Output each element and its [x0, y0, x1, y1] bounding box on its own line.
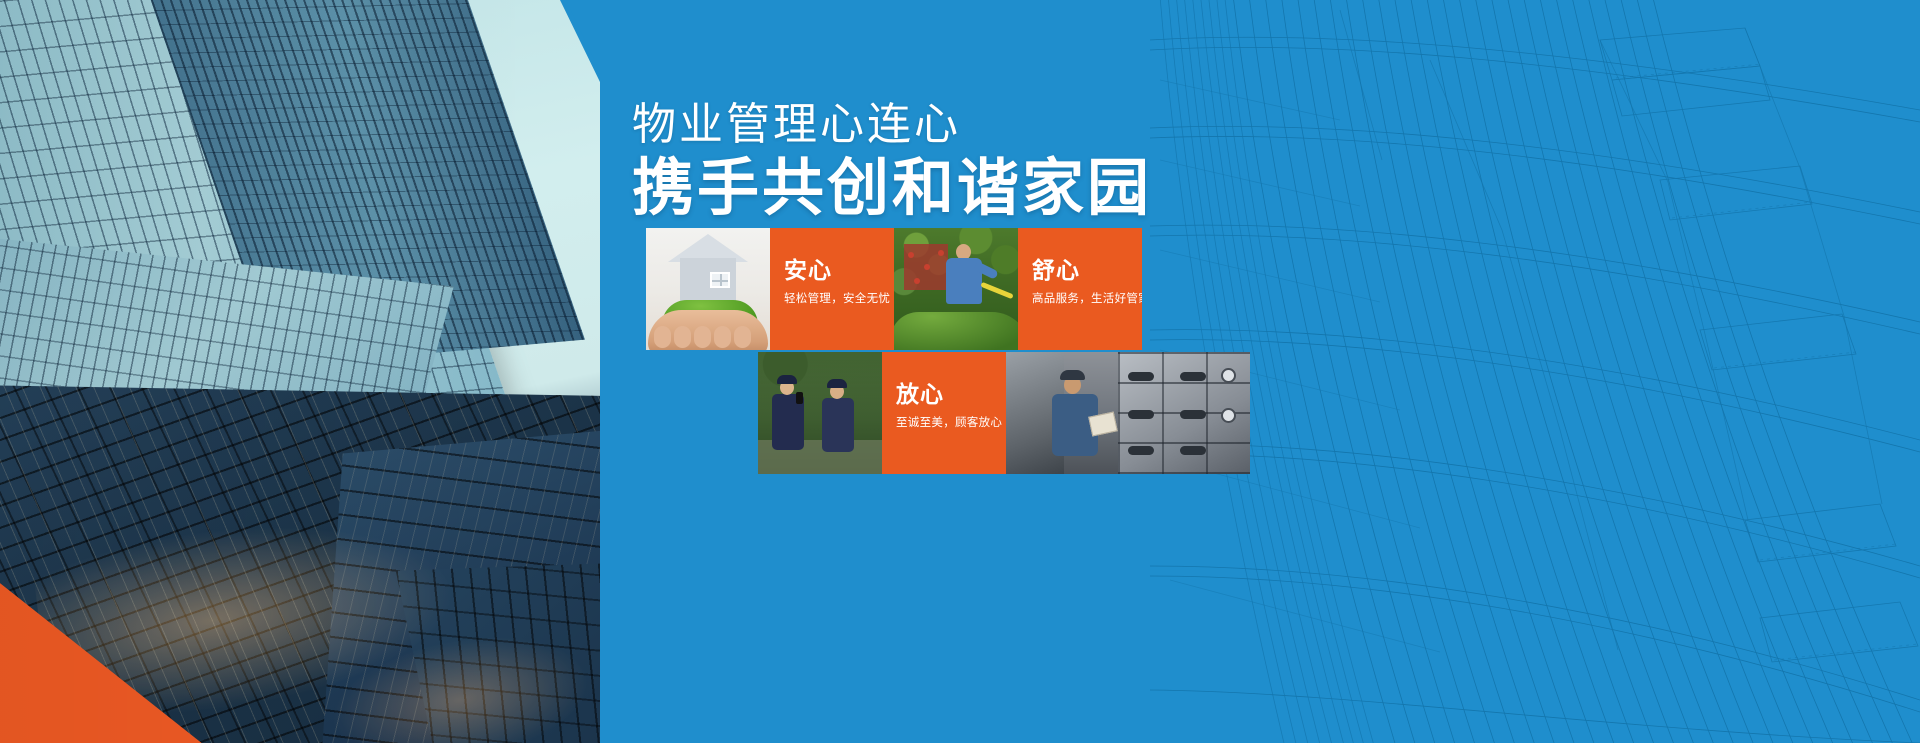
- guard-two-body-shape: [822, 398, 854, 452]
- guard-two-cap-shape: [827, 379, 847, 388]
- walkie-talkie-shape: [796, 392, 803, 404]
- finger-shape: [734, 326, 751, 348]
- feature-card-grid: 安心 轻松管理，安全无忧 舒心 高品服务，生活好管家: [646, 228, 1250, 474]
- panel-handle-shape: [1180, 446, 1206, 455]
- panel-handle-shape: [1128, 372, 1154, 381]
- panel-handle-shape: [1180, 410, 1206, 419]
- card-image-shuxin: [894, 228, 1018, 350]
- panel-handle-shape: [1180, 372, 1206, 381]
- headline-subtitle: 物业管理心连心: [632, 100, 1152, 149]
- flower-shape: [908, 252, 914, 258]
- hands-holding-house-illustration: [646, 228, 770, 350]
- card-image-fangxin: [758, 352, 882, 474]
- finger-shape: [714, 326, 731, 348]
- card-title: 放心: [896, 382, 1006, 407]
- finger-shape: [694, 326, 711, 348]
- headline-title: 携手共创和谐家园: [632, 153, 1152, 225]
- panel-gauge-shape: [1221, 368, 1236, 383]
- flower-shape: [924, 264, 930, 270]
- guard-one-cap-shape: [777, 375, 797, 384]
- card-fangxin[interactable]: 放心 至诚至美，顾客放心: [882, 352, 1006, 474]
- electrician-illustration: [1006, 352, 1250, 474]
- panel-gauge-shape: [1221, 408, 1236, 423]
- hard-hat-shape: [1060, 370, 1085, 380]
- finger-shape: [654, 326, 671, 348]
- card-image-electrician: [1006, 352, 1250, 474]
- card-image-anxin: [646, 228, 770, 350]
- panel-handle-shape: [1128, 446, 1154, 455]
- headline-block: 物业管理心连心 携手共创和谐家园: [632, 100, 1152, 225]
- card-shuxin[interactable]: 舒心 高品服务，生活好管家: [1018, 228, 1142, 350]
- panel-handle-shape: [1128, 410, 1154, 419]
- gardener-illustration: [894, 228, 1018, 350]
- clipboard-shape: [1088, 412, 1118, 437]
- flower-shape: [914, 278, 920, 284]
- card-subtitle: 至诚至美，顾客放心: [896, 417, 1006, 431]
- security-guards-illustration: [758, 352, 882, 474]
- property-management-banner: 物业管理心连心 携手共创和谐家园 安心 轻松管理，安全无忧: [0, 0, 1920, 743]
- card-anxin[interactable]: 安心 轻松管理，安全无忧: [770, 228, 894, 350]
- hedge-shape: [894, 312, 1018, 350]
- finger-shape: [674, 326, 691, 348]
- flower-shape: [938, 250, 944, 256]
- card-title: 安心: [784, 258, 894, 283]
- card-title: 舒心: [1032, 258, 1142, 283]
- card-subtitle: 轻松管理，安全无忧: [784, 293, 894, 307]
- house-window-shape: [710, 272, 730, 288]
- card-subtitle: 高品服务，生活好管家: [1032, 293, 1142, 307]
